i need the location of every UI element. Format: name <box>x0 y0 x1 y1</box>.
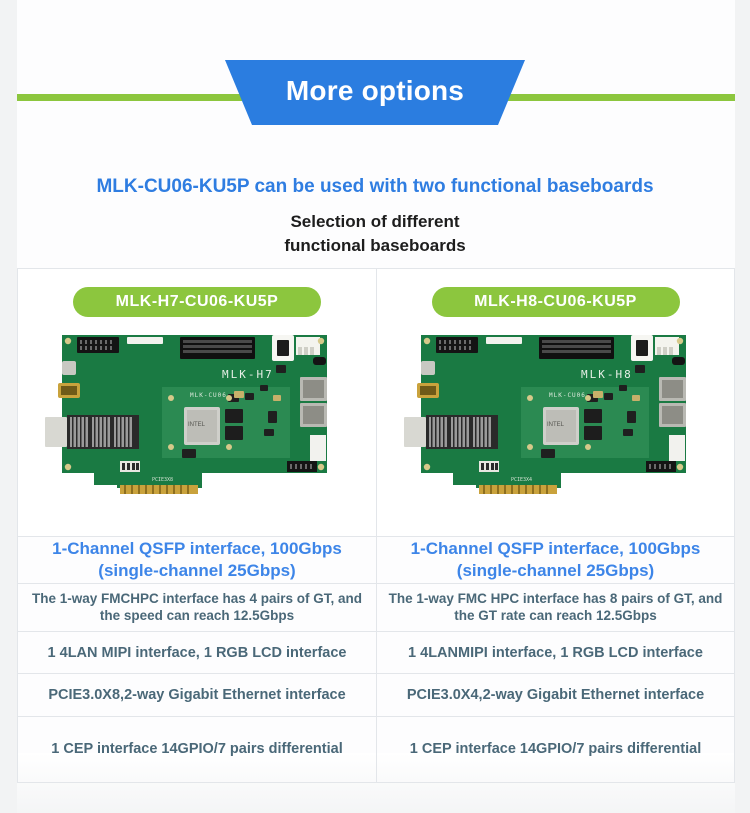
subheading-line-2: functional baseboards <box>0 234 750 258</box>
product-pill-h7[interactable]: MLK-H7-CU06-KU5P <box>73 287 321 317</box>
table-column-h8: MLK-H8-CU06-KU5P <box>376 268 735 783</box>
board-image-h8: MLK-H8 MLK-CU06 INTEL PCIE3X4 <box>391 325 721 521</box>
spec-pcie-h8: PCIE3.0X4,2-way Gigabit Ethernet interfa… <box>377 674 734 717</box>
banner: More options <box>0 60 750 138</box>
page-root: More options MLK-CU06-KU5P can be used w… <box>0 0 750 813</box>
board-silk-sub-h7: MLK-CU06 <box>190 392 227 399</box>
pcb-illustration-h8: MLK-H8 MLK-CU06 INTEL PCIE3X4 <box>391 325 721 521</box>
page-subheading: Selection of different functional basebo… <box>0 210 750 258</box>
banner-title: More options <box>225 60 525 122</box>
board-silk-pcie-h7: PCIE3X8 <box>152 477 173 483</box>
product-pill-h8[interactable]: MLK-H8-CU06-KU5P <box>432 287 680 317</box>
subheading-line-1: Selection of different <box>0 210 750 234</box>
board-cell-h8: MLK-H8-CU06-KU5P <box>377 269 734 537</box>
board-silk-main-h7: MLK-H7 <box>222 368 274 381</box>
ribbon: More options <box>225 60 525 125</box>
spec-qsfp-h8: 1-Channel QSFP interface, 100Gbps (singl… <box>377 537 734 584</box>
spec-mipi-h8: 1 4LANMIPI interface, 1 RGB LCD interfac… <box>377 632 734 675</box>
pcb-illustration-h7: MLK-H7 MLK-CU06 INTEL PCIE3X8 <box>32 325 362 521</box>
spec-mipi-h7: 1 4LAN MIPI interface, 1 RGB LCD interfa… <box>18 632 376 675</box>
spec-fmc-h7: The 1-way FMCHPC interface has 4 pairs o… <box>18 584 376 632</box>
spec-qsfp-h7: 1-Channel QSFP interface, 100Gbps (singl… <box>18 537 376 584</box>
spec-cep-h8: 1 CEP interface 14GPIO/7 pairs different… <box>377 717 734 782</box>
spec-cep-h7: 1 CEP interface 14GPIO/7 pairs different… <box>18 717 376 782</box>
board-silk-sub-h8: MLK-CU06 <box>549 392 586 399</box>
board-silk-main-h8: MLK-H8 <box>581 368 633 381</box>
spec-fmc-h8: The 1-way FMC HPC interface has 8 pairs … <box>377 584 734 632</box>
page-headline: MLK-CU06-KU5P can be used with two funct… <box>0 176 750 198</box>
board-silk-chip-h8: INTEL <box>547 422 565 428</box>
comparison-table: MLK-H7-CU06-KU5P <box>17 268 735 783</box>
board-silk-pcie-h8: PCIE3X4 <box>511 477 532 483</box>
table-column-h7: MLK-H7-CU06-KU5P <box>17 268 376 783</box>
board-cell-h7: MLK-H7-CU06-KU5P <box>18 269 376 537</box>
board-image-h7: MLK-H7 MLK-CU06 INTEL PCIE3X8 <box>32 325 362 521</box>
board-silk-chip-h7: INTEL <box>188 422 206 428</box>
spec-pcie-h7: PCIE3.0X8,2-way Gigabit Ethernet interfa… <box>18 674 376 717</box>
